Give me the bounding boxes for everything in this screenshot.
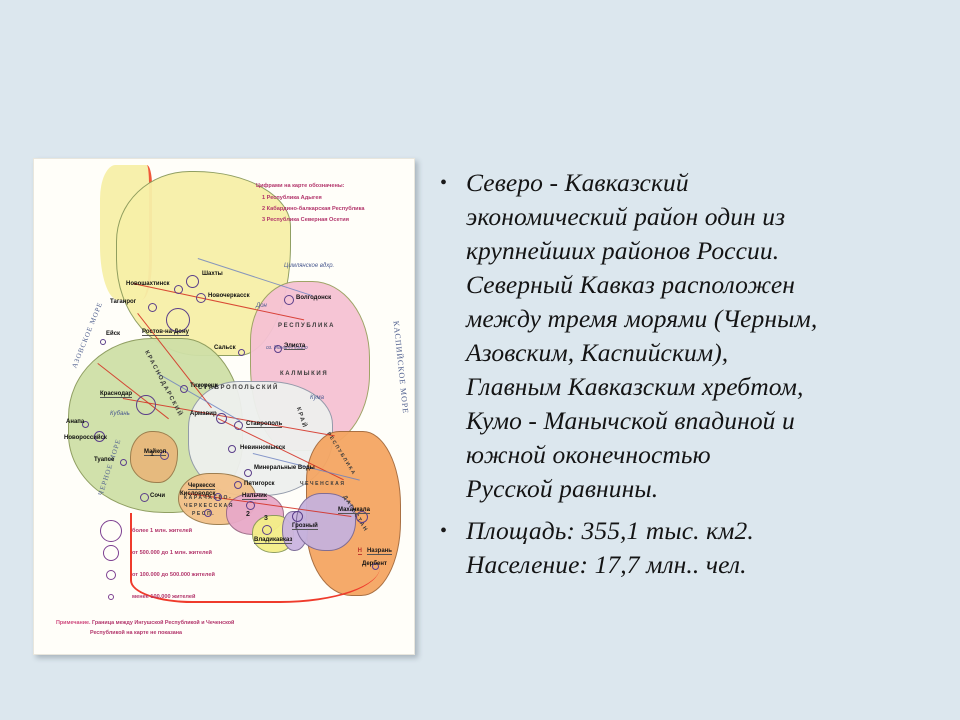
map-legend-population: более 1 млн. жителей от 500.000 до 1 млн… xyxy=(98,520,215,608)
map-region-adygea xyxy=(130,431,178,483)
city-dot-minvody xyxy=(244,469,252,477)
map-legend-note: Примечание. Граница между Ингушской Респ… xyxy=(56,619,234,638)
city-dot-grozny xyxy=(292,511,303,522)
city-label-minvody: Минеральные Воды xyxy=(254,465,315,471)
city-label-novocherkassk: Новочеркасск xyxy=(208,293,250,299)
city-dot-taganrog xyxy=(148,303,157,312)
city-label-novoshakhtinsk: Новошахтинск xyxy=(126,281,170,287)
city-dot-cherkessk xyxy=(204,509,212,517)
population-circle-icon xyxy=(108,594,114,600)
legend-numbers-item-2: 2 Кабардино-балкарская Республика xyxy=(256,204,364,215)
city-label-grozny: Грозный xyxy=(292,523,318,530)
city-label-cherkessk: Черкесск xyxy=(188,483,215,490)
city-dot-shakhty xyxy=(186,275,199,288)
map-number-2: 2 xyxy=(246,511,250,518)
city-dot-nalchik xyxy=(246,501,255,510)
note-word: Примечание. xyxy=(56,620,91,626)
city-label-stavropol: Ставрополь xyxy=(246,421,282,428)
city-dot-tuapse xyxy=(120,459,127,466)
city-dot-elista xyxy=(274,345,282,353)
city-label-salsk: Сальск xyxy=(214,345,236,351)
city-label-derbent: Дербент xyxy=(362,561,387,567)
map-number-3: 3 xyxy=(264,515,268,522)
bullet-text-description: Северо - Кавказский экономический район … xyxy=(466,166,817,506)
legend-numbers-title: Цифрами на карте обозначены: xyxy=(256,181,364,192)
note-line-2: Республикой на карте не показана xyxy=(56,629,234,638)
bullet-item: • Северо - Кавказский экономический райо… xyxy=(432,166,937,506)
city-label-anapa: Анапа xyxy=(66,419,84,425)
map-number-1: 1 xyxy=(150,451,154,458)
city-label-nalchik: Нальчик xyxy=(242,493,267,500)
legend-population-row: более 1 млн. жителей xyxy=(98,520,215,542)
city-label-elista: Элиста xyxy=(284,343,305,350)
slide-body-text: • Северо - Кавказский экономический райо… xyxy=(432,166,937,590)
city-label-nevinnomyssk: Невинномысск xyxy=(240,445,285,451)
bullet-text-statistics: Площадь: 355,1 тыс. км2. Население: 17,7… xyxy=(466,514,754,582)
territory-label-kalmykia: КАЛМЫКИЯ xyxy=(280,371,328,377)
legend-population-label-4: менее 100.000 жителей xyxy=(132,594,195,600)
city-dot-salsk xyxy=(238,349,245,356)
city-dot-krasnodar xyxy=(136,395,156,415)
city-label-yeysk: Ейск xyxy=(106,331,120,337)
city-label-armavir: Армавир xyxy=(190,411,217,417)
city-dot-sochi xyxy=(140,493,149,502)
city-dot-armavir xyxy=(216,413,227,424)
bullet-marker-icon: • xyxy=(432,514,466,548)
city-label-pyatigorsk: Пятигорск xyxy=(244,481,275,487)
hydro-label-kuma: Кума xyxy=(310,395,324,401)
nazran-letter: Н xyxy=(358,548,362,555)
legend-numbers-item-3: 3 Республика Северная Осетия xyxy=(256,215,364,226)
city-dot-pyatigorsk xyxy=(234,481,242,489)
legend-population-row: менее 100.000 жителей xyxy=(98,586,215,608)
city-label-volgodonsk: Волгодонск xyxy=(296,295,331,301)
note-line-1: Граница между Ингушской Республикой и Че… xyxy=(92,620,234,626)
city-label-novorossiysk: Новороссийск xyxy=(64,435,107,441)
nazran-name: Назрань xyxy=(367,548,392,555)
city-label-shakhty: Шахты xyxy=(202,271,223,277)
sea-label-caspian: КАСПИЙСКОЕ МОРЕ xyxy=(391,320,410,414)
city-label-sochi: Сочи xyxy=(150,493,165,499)
city-label-makhachkala: Махачкала xyxy=(338,507,370,514)
city-label-kislovodsk: Кисловодск xyxy=(180,491,215,497)
city-dot-stavropol xyxy=(234,421,243,430)
territory-label-respublika: РЕСПУБЛИКА xyxy=(278,323,335,329)
city-label-taganrog: Таганрог xyxy=(110,299,136,305)
map-legend-numbers: Цифрами на карте обозначены: 1 Республик… xyxy=(256,181,364,226)
city-dot-tikhoretsk xyxy=(180,385,188,393)
territory-label-kchr-2: ЧЕРКЕССКАЯ xyxy=(184,503,234,509)
population-circle-icon xyxy=(106,570,116,580)
legend-population-label-3: от 100.000 до 500.000 жителей xyxy=(132,572,215,578)
city-dot-novoshakhtinsk xyxy=(174,285,183,294)
bullet-item: • Площадь: 355,1 тыс. км2. Население: 17… xyxy=(432,514,937,582)
city-label-krasnodar: Краснодар xyxy=(100,391,132,398)
bullet-marker-icon: • xyxy=(432,166,466,200)
population-circle-icon xyxy=(103,545,119,561)
legend-population-label-2: от 500.000 до 1 млн. жителей xyxy=(132,550,212,556)
city-dot-vladikavkaz xyxy=(262,525,272,535)
city-label-tuapse: Туапсе xyxy=(94,457,114,463)
city-label-vladikavkaz: Владикавказ xyxy=(254,537,292,544)
population-circle-icon xyxy=(100,520,122,542)
hydro-label-kuban: Кубань xyxy=(110,411,130,417)
map-canvas: АЗОВСКОЕ МОРЕ ЧЕРНОЕ МОРЕ КАСПИЙСКОЕ МОР… xyxy=(38,163,410,650)
city-dot-nevinnomyssk xyxy=(228,445,236,453)
hydro-label-tsimlyansk: Цимлянское вдхр. xyxy=(284,263,334,269)
territory-label-chechnya: ЧЕЧЕНСКАЯ xyxy=(300,481,346,487)
city-dot-yeysk xyxy=(100,339,106,345)
legend-population-row: от 100.000 до 500.000 жителей xyxy=(98,564,215,586)
city-label-rostov: Ростов-на-Дону xyxy=(142,329,189,336)
legend-population-label-1: более 1 млн. жителей xyxy=(132,528,192,534)
city-label-tikhoretsk: Тихорецк xyxy=(190,383,218,389)
legend-population-row: от 500.000 до 1 млн. жителей xyxy=(98,542,215,564)
map-key-nazran: Н Назрань xyxy=(358,548,392,555)
city-dot-volgodonsk xyxy=(284,295,294,305)
hydro-label-don: Дон xyxy=(256,303,267,309)
map-image-card: АЗОВСКОЕ МОРЕ ЧЕРНОЕ МОРЕ КАСПИЙСКОЕ МОР… xyxy=(33,158,415,655)
city-label-maykop: Майкоп xyxy=(144,449,166,456)
legend-numbers-item-1: 1 Республика Адыгея xyxy=(256,193,364,204)
city-dot-novocherkassk xyxy=(196,293,206,303)
